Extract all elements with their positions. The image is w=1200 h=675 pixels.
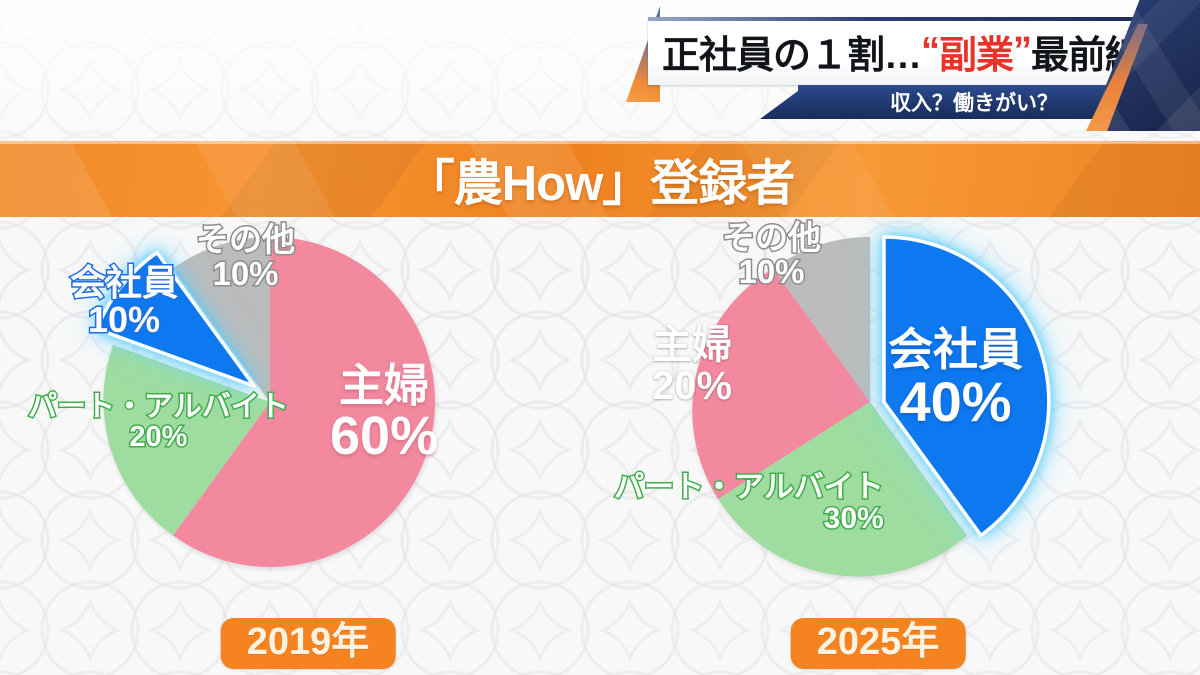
label-other-value-2019: 10% (196, 257, 295, 291)
pie-chart-2019: その他 10% 会社員 10% パート・アルバイト 20% 主婦 60% 201… (0, 217, 600, 675)
label-other-2025: その他 10% (722, 221, 821, 288)
label-other-2019: その他 10% (196, 223, 295, 290)
year-badge-2019[interactable]: 2019年 (221, 618, 396, 669)
label-other-name-2019: その他 (196, 223, 295, 257)
label-parttime-value-2025: 30% (614, 504, 884, 535)
label-parttime-2025: パート・アルバイト 30% (614, 473, 884, 534)
label-parttime-name-2019: パート・アルバイト (28, 393, 289, 423)
label-parttime-2019: パート・アルバイト 20% (28, 393, 289, 452)
label-employee-2019: 会社員 10% (70, 265, 178, 338)
headline-sub-text: 収入？働きがい？ (890, 87, 1058, 117)
pie-2025-holder: その他 10% 主婦 20% パート・アルバイト 30% 会社員 40% (600, 217, 1200, 597)
year-badge-2025[interactable]: 2025年 (791, 618, 966, 669)
label-housewife-name-2019: 主婦 (330, 363, 438, 409)
label-housewife-name-2025: 主婦 (652, 325, 732, 366)
broadcast-graphic-screen: 正社員の１割…“副業”最前線 収入？働きがい？ 「農How」登録者 (0, 0, 1200, 675)
label-other-name-2025: その他 (722, 221, 821, 255)
label-housewife-2019: 主婦 60% (330, 363, 438, 464)
headline-prefix: 正社員の１割… (662, 24, 921, 79)
label-employee-value-2025: 40% (888, 373, 1023, 430)
label-housewife-value-2019: 60% (330, 409, 438, 464)
headline-quote-open: “ (921, 30, 939, 73)
year-badge-2025-text: 2025年 (817, 621, 940, 663)
year-badge-2019-text: 2019年 (247, 621, 370, 663)
headline-accent-word: 副業 (939, 24, 1013, 79)
chart-title-band: 「農How」登録者 (0, 141, 1200, 217)
pie-2019-holder: その他 10% 会社員 10% パート・アルバイト 20% 主婦 60% (0, 217, 600, 597)
label-employee-value-2019: 10% (70, 302, 178, 339)
headline-main-text: 正社員の１割…“副業”最前線 (662, 21, 1182, 81)
label-employee-name-2025: 会社員 (888, 327, 1023, 373)
page-title: 「農How」登録者 (0, 141, 1200, 217)
label-other-value-2025: 10% (722, 255, 821, 289)
label-employee-name-2019: 会社員 (70, 265, 178, 302)
headline-quote-close: ” (1013, 30, 1031, 73)
charts-area: その他 10% 会社員 10% パート・アルバイト 20% 主婦 60% 201… (0, 217, 1200, 675)
pie-chart-2025: その他 10% 主婦 20% パート・アルバイト 30% 会社員 40% 202… (600, 217, 1200, 675)
label-parttime-name-2025: パート・アルバイト (614, 473, 884, 504)
label-parttime-value-2019: 20% (28, 423, 289, 453)
label-employee-2025: 会社員 40% (888, 327, 1023, 430)
headline-banner: 正社員の１割…“副業”最前線 収入？働きがい？ (620, 0, 1200, 131)
label-housewife-value-2025: 20% (652, 366, 732, 407)
label-housewife-2025: 主婦 20% (652, 325, 732, 407)
